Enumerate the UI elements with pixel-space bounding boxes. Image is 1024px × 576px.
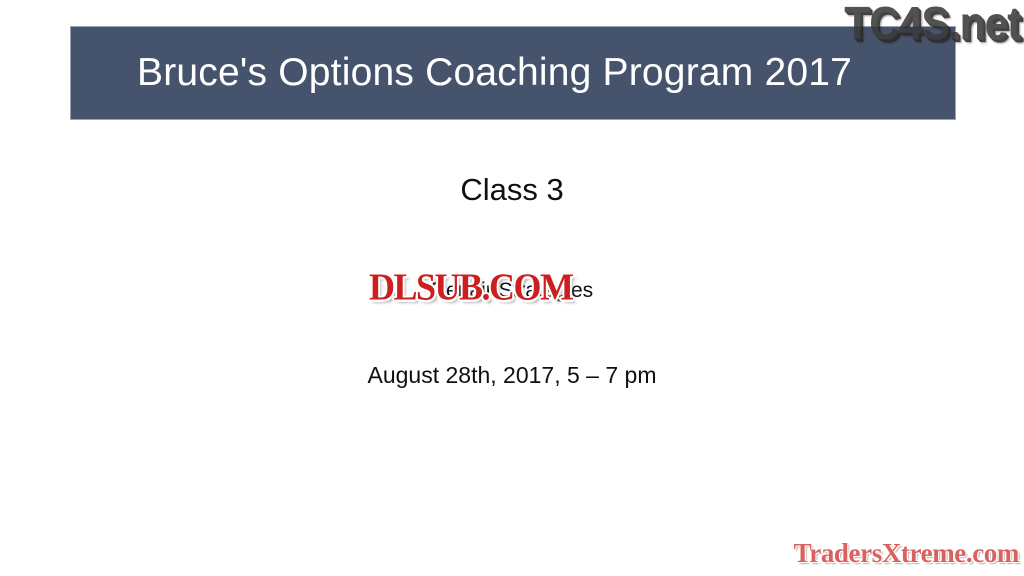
slide-title-banner: Bruce's Options Coaching Program 2017: [70, 26, 956, 120]
class-subject-label: Repair Strategies: [0, 279, 1024, 303]
page-title: Bruce's Options Coaching Program 2017: [137, 52, 852, 95]
class-number-label: Class 3: [0, 172, 1024, 208]
class-datetime-label: August 28th, 2017, 5 – 7 pm: [0, 362, 1024, 389]
presentation-slide: Bruce's Options Coaching Program 2017 Cl…: [0, 0, 1024, 576]
